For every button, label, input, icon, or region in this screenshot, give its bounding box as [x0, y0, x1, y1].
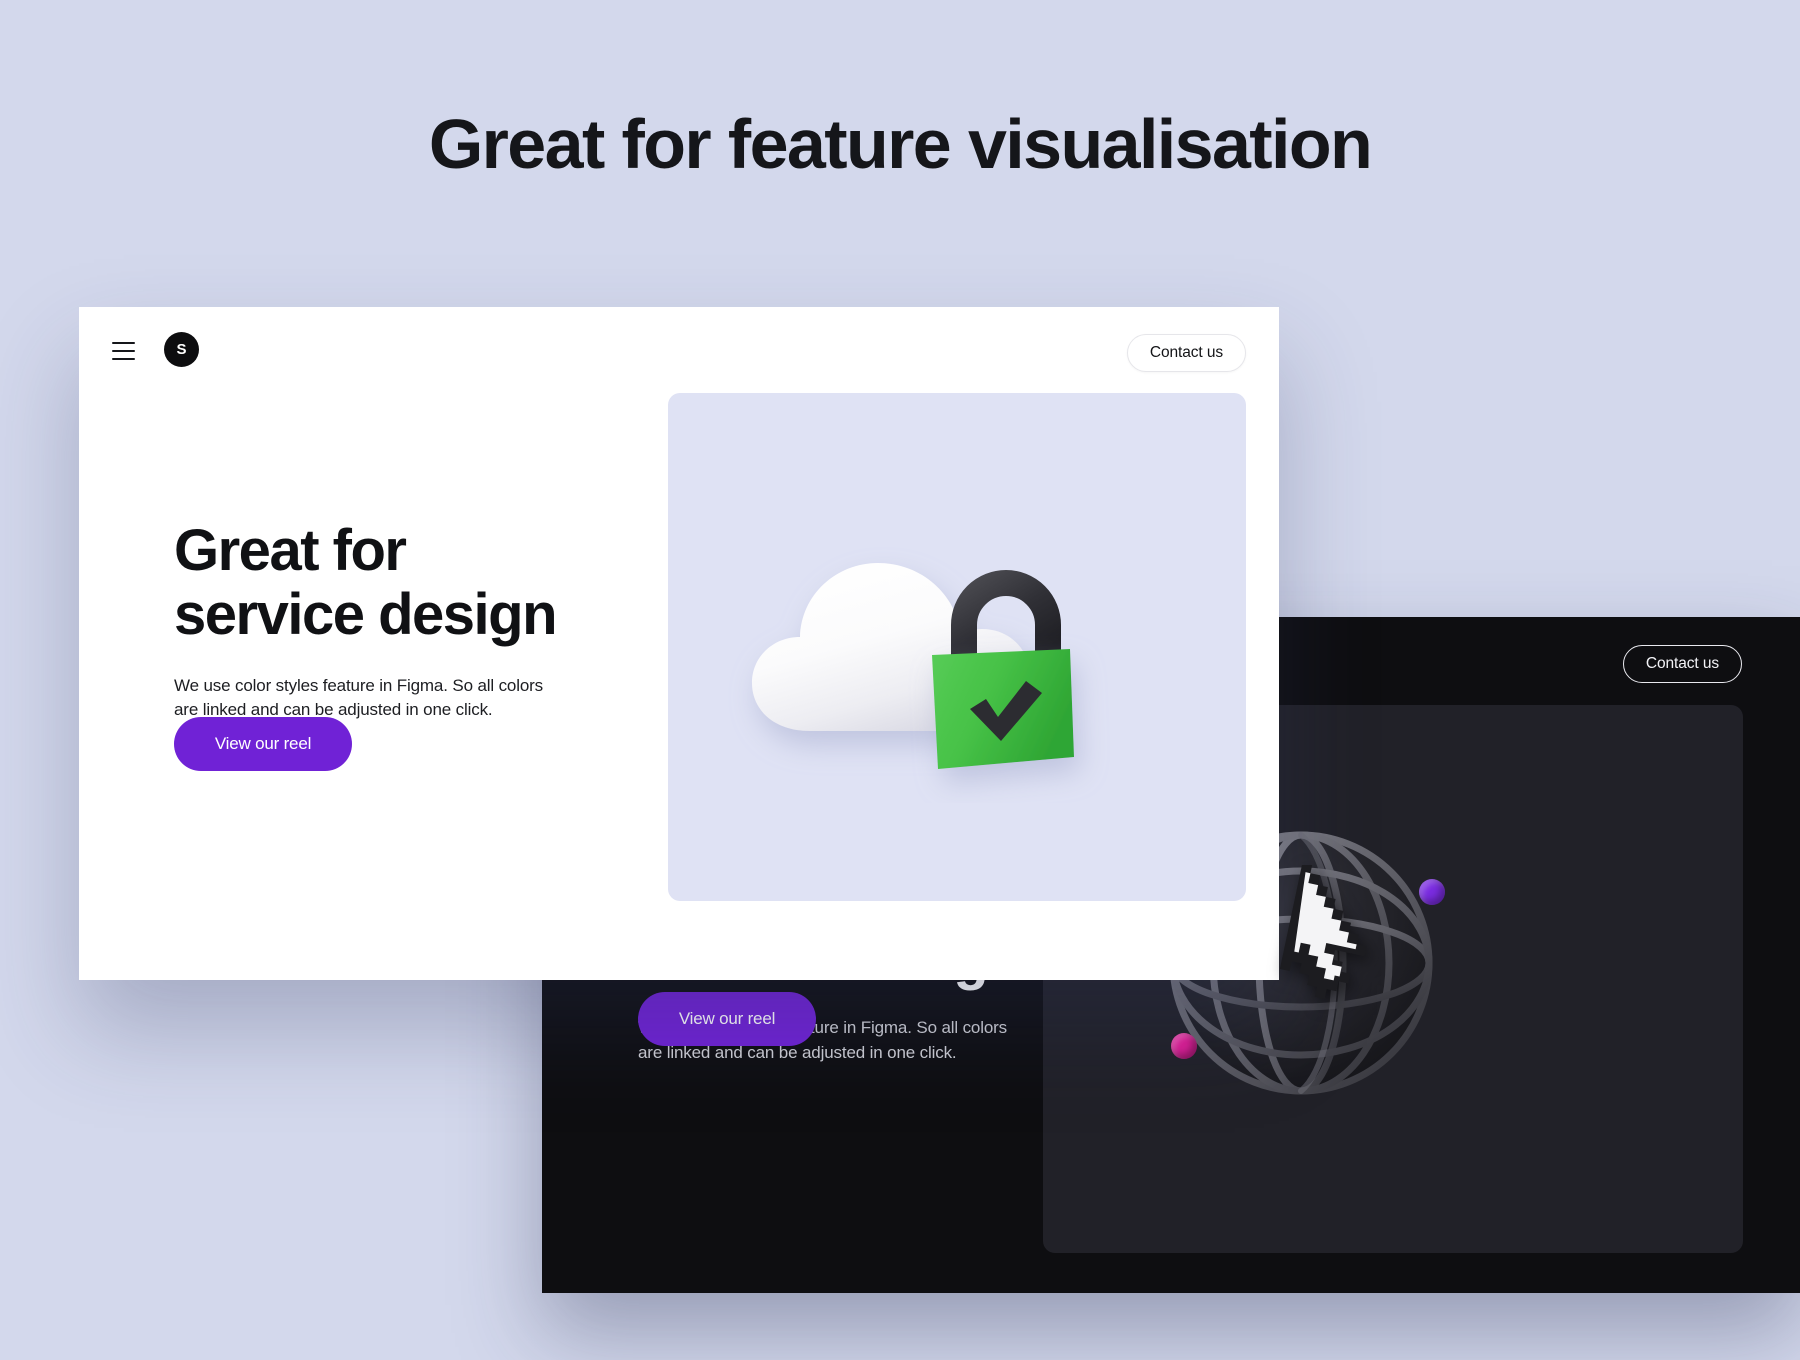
light-card-image-panel — [668, 393, 1246, 901]
hamburger-bar — [112, 358, 135, 360]
pixel-cursor-icon — [1275, 865, 1395, 1035]
light-view-our-reel-button[interactable]: View our reel — [174, 717, 352, 771]
hamburger-icon[interactable] — [112, 342, 135, 360]
hamburger-bar — [112, 342, 135, 344]
light-contact-us-button[interactable]: Contact us — [1127, 334, 1246, 372]
brand-logo[interactable]: S — [164, 332, 199, 367]
light-theme-card: S Contact us Great for service design We… — [79, 307, 1279, 980]
hamburger-bar — [112, 350, 135, 352]
globe-marker-pink — [1171, 1033, 1197, 1059]
globe-marker-purple — [1419, 879, 1445, 905]
page-title: Great for feature visualisation — [0, 108, 1800, 182]
padlock-icon — [932, 583, 1074, 769]
light-heading-line-1: Great for — [174, 518, 405, 583]
light-heading-line-2: service design — [174, 582, 556, 647]
light-card-paragraph: We use color styles feature in Figma. So… — [174, 674, 546, 723]
light-card-navbar: S Contact us — [79, 307, 1279, 395]
cloud-lock-illustration — [718, 503, 1198, 803]
light-card-heading: Great for service design — [174, 519, 614, 647]
dark-view-our-reel-button[interactable]: View our reel — [638, 992, 816, 1046]
light-card-copy-block: Great for service design We use color st… — [174, 519, 614, 723]
dark-contact-us-button[interactable]: Contact us — [1623, 645, 1742, 683]
